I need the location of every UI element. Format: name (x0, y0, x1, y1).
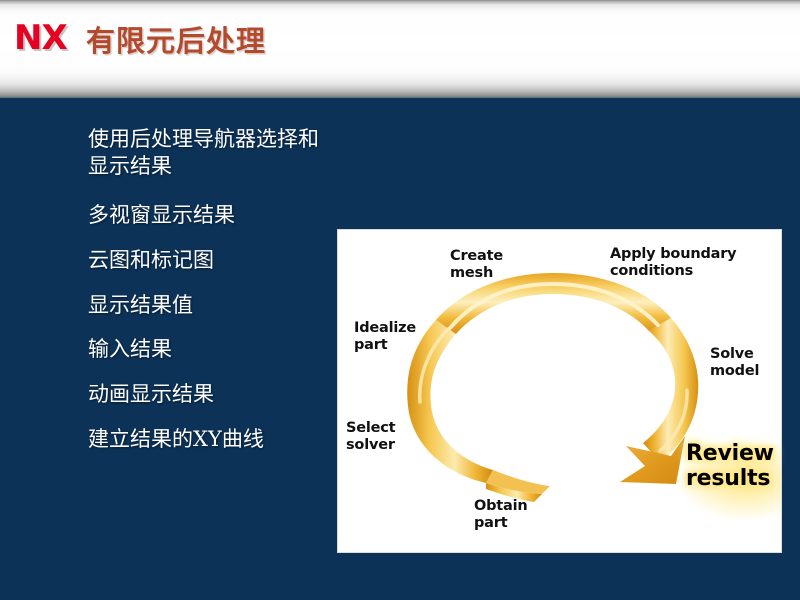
fea-workflow-diagram: Create mesh Apply boundary conditions Id… (338, 230, 781, 552)
list-item: 多视窗显示结果 (88, 202, 418, 229)
slide-header: NX 有限元后处理 (0, 0, 800, 98)
diagram-label-create-mesh: Create mesh (450, 248, 503, 281)
slide: NX 有限元后处理 使用后处理导航器选择和 显示结果 多视窗显示结果 云图和标记… (0, 0, 800, 600)
nx-logo: NX (14, 21, 67, 55)
diagram-label-apply-boundary: Apply boundary conditions (610, 246, 736, 279)
diagram-label-solve-model: Solve model (710, 346, 759, 379)
diagram-label-select-solver: Select solver (346, 420, 395, 453)
page-title: 有限元后处理 (86, 25, 266, 58)
diagram-label-obtain-part: Obtain part (474, 498, 528, 531)
diagram-label-idealize-part: Idealize part (354, 320, 416, 353)
diagram-label-review-results: Review results (686, 442, 774, 491)
list-item: 使用后处理导航器选择和 显示结果 (88, 126, 418, 180)
